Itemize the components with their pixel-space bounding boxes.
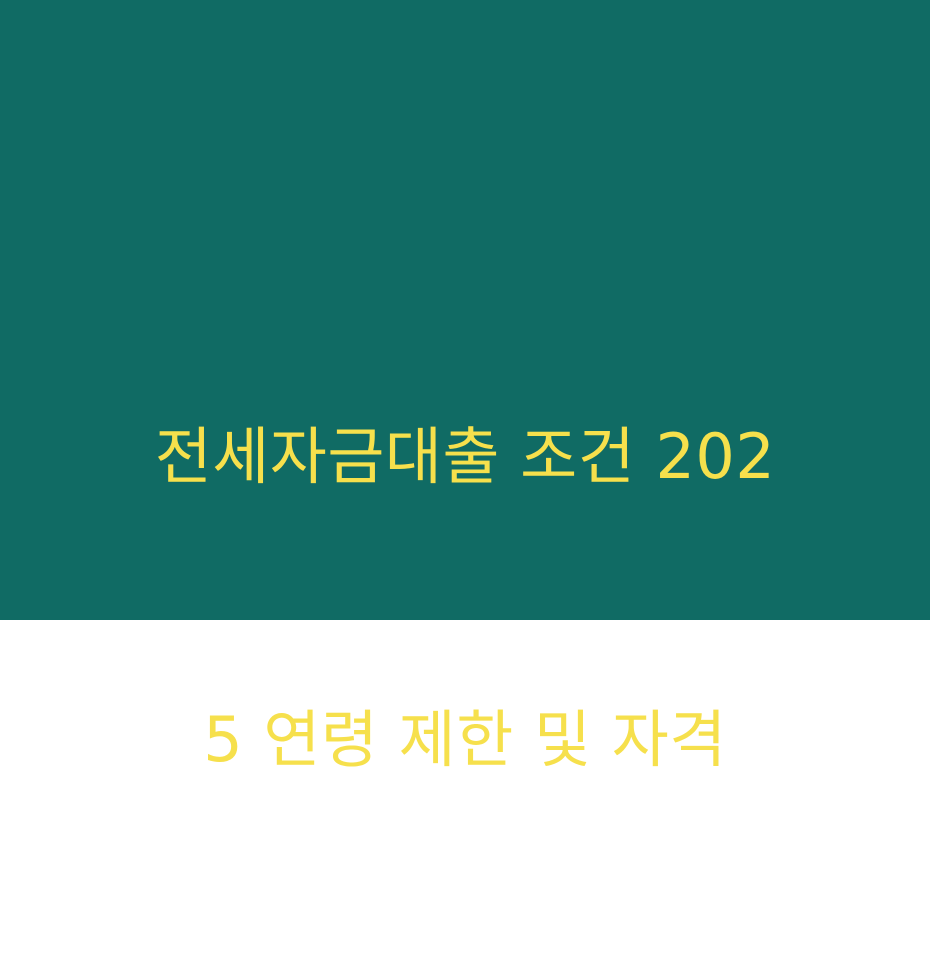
- page-title-line-2: 5 연령 제한 및 자격: [70, 693, 860, 787]
- title-card: 전세자금대출 조건 202 5 연령 제한 및 자격: [0, 0, 930, 620]
- page-title: 전세자금대출 조건 202 5 연령 제한 및 자격: [70, 222, 860, 976]
- page-title-line-1: 전세자금대출 조건 202: [70, 410, 860, 504]
